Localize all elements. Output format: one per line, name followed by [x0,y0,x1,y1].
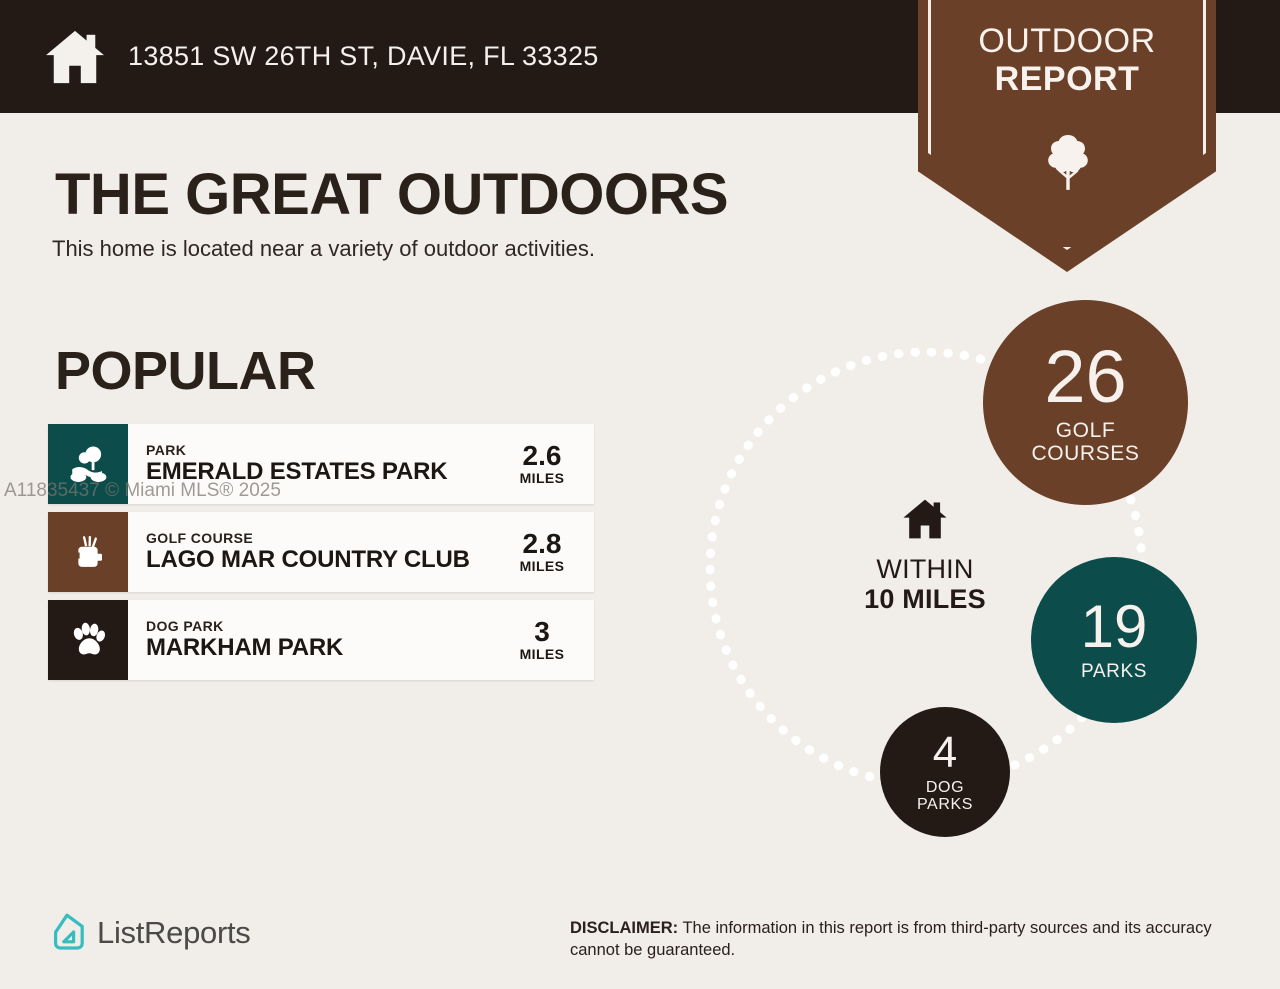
list-item-distance-unit: MILES [520,470,565,486]
list-item-distance-value: 2.8 [523,530,562,558]
outdoor-report-badge: OUTDOOR REPORT [918,0,1216,272]
list-item-category: PARK [146,442,498,458]
golf-icon-box [48,512,128,592]
list-item-distance: 2.6 MILES [498,424,594,504]
stat-label-line1: GOLF [1031,420,1139,443]
list-item-distance: 2.8 MILES [498,512,594,592]
list-item[interactable]: GOLF COURSE LAGO MAR COUNTRY CLUB 2.8 MI… [48,512,594,592]
list-item[interactable]: DOG PARK MARKHAM PARK 3 MILES [48,600,594,680]
list-item-category: GOLF COURSE [146,530,498,546]
home-icon [902,498,948,540]
disclaimer: DISCLAIMER: The information in this repo… [570,917,1230,961]
stat-value: 19 [1081,597,1148,657]
list-item-distance-value: 3 [534,618,550,646]
stat-value: 26 [1044,340,1126,414]
list-item-name: LAGO MAR COUNTRY CLUB [146,546,498,574]
list-item-distance-value: 2.6 [523,442,562,470]
stat-label-line2: COURSES [1031,443,1139,466]
listreports-house-tag-icon [48,912,86,954]
list-item-text: DOG PARK MARKHAM PARK [128,600,498,680]
badge-title: OUTDOOR REPORT [918,22,1216,98]
dog-park-icon-box [48,600,128,680]
tree-icon [1047,133,1089,195]
badge-title-line1: OUTDOOR [978,22,1155,60]
stat-label-line2: PARKS [917,796,973,813]
listreports-logo[interactable]: ListReports [48,912,251,954]
list-item-category: DOG PARK [146,618,498,634]
stat-circle-dog-parks[interactable]: 4 DOG PARKS [880,707,1010,837]
list-item-text: GOLF COURSE LAGO MAR COUNTRY CLUB [128,512,498,592]
stat-label: PARKS [1081,662,1147,683]
stat-circle-golf-courses[interactable]: 26 GOLF COURSES [983,300,1188,505]
list-item-distance-unit: MILES [520,646,565,662]
home-icon [44,29,106,85]
stat-circle-parks[interactable]: 19 PARKS [1031,557,1197,723]
paw-print-icon [67,619,109,661]
park-trees-icon [67,443,109,485]
listreports-brand-name: ListReports [97,915,251,951]
popular-list: PARK EMERALD ESTATES PARK 2.6 MILES GOLF… [48,424,594,688]
header-address: 13851 SW 26TH ST, DAVIE, FL 33325 [128,41,599,72]
list-item-name: MARKHAM PARK [146,634,498,662]
stat-label-line1: PARKS [1081,662,1147,683]
stat-label-line1: DOG [917,779,973,796]
disclaimer-label: DISCLAIMER: [570,919,678,937]
stat-label: GOLF COURSES [1031,420,1139,465]
badge-title-line2: REPORT [918,60,1216,98]
stat-value: 4 [933,731,957,775]
list-item-distance-unit: MILES [520,558,565,574]
within-line2: 10 MILES [830,584,1020,614]
mls-watermark: A11835437 © Miami MLS® 2025 [4,480,281,502]
stat-label: DOG PARKS [917,779,973,814]
section-title-popular: POPULAR [55,340,316,402]
golf-bag-icon [67,531,109,573]
page-subtitle: This home is located near a variety of o… [52,236,595,262]
list-item-distance: 3 MILES [498,600,594,680]
within-radius-label: WITHIN 10 MILES [830,498,1020,614]
page-title: THE GREAT OUTDOORS [55,161,728,228]
within-line1: WITHIN [830,554,1020,584]
